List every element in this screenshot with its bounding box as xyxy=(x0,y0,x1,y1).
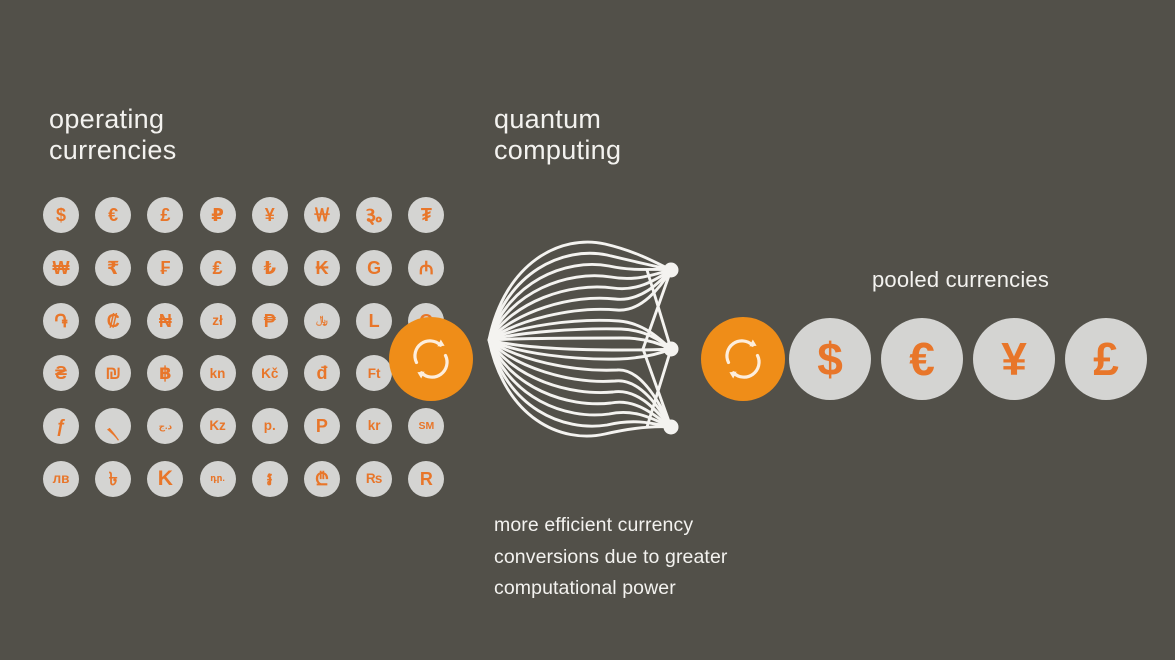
currency-coin-algerian-dinar: د.ج xyxy=(147,408,183,444)
currency-coin-azerbaijani-manat: ₼ xyxy=(408,250,444,286)
currency-coin-bengali-rupee: ৲ xyxy=(95,408,131,444)
currency-coin-ukrainian-hryvnia: ₴ xyxy=(43,355,79,391)
sync-arrows-icon xyxy=(407,335,455,383)
currency-coin-tajikistani-somoni: SM xyxy=(408,408,444,444)
currency-coin-saudi-riyal: ﷼ xyxy=(304,303,340,339)
currency-coin-angolan-kwanza: Kz xyxy=(200,408,236,444)
currency-coin-croatian-kuna: kn xyxy=(200,355,236,391)
currency-coin-lao-kip: ₭ xyxy=(304,250,340,286)
currency-coin-costa-rican-colon: ₡ xyxy=(95,303,131,339)
currency-coin-bangladeshi-taka: ৳ xyxy=(95,461,131,497)
currency-conversion-left[interactable] xyxy=(389,317,473,401)
currency-coin-vietnamese-dong: đ xyxy=(304,355,340,391)
currency-coin-bulgarian-lev: лв xyxy=(43,461,79,497)
pooled-coin-us-dollar: $ xyxy=(789,318,871,400)
sync-arrows-icon xyxy=(719,335,767,383)
currency-coin-mongolian-tugrik: ₮ xyxy=(408,197,444,233)
quantum-neural-network-icon xyxy=(483,228,689,450)
currency-coin-us-dollar: $ xyxy=(43,197,79,233)
currency-coin-pound-sterling: £ xyxy=(147,197,183,233)
currency-coin-albanian-lek: L xyxy=(356,303,392,339)
currency-coin-lira: ₤ xyxy=(200,250,236,286)
currency-coin-french-franc: ₣ xyxy=(147,250,183,286)
currency-coin-philippine-peso: ₱ xyxy=(252,303,288,339)
currency-coin-scandinavian-krone: kr xyxy=(356,408,392,444)
currency-coin-korean-won: ￦ xyxy=(304,197,340,233)
pooled-coin-euro: € xyxy=(881,318,963,400)
currency-coin-nigerian-naira: ₦ xyxy=(147,303,183,339)
quantum-neural-network-diagram xyxy=(483,228,689,450)
currency-coin-hungarian-forint: Ft xyxy=(356,355,392,391)
efficiency-caption: more efficient currency conversions due … xyxy=(494,510,728,605)
currency-coin-georgian-lari: ₾ xyxy=(304,461,340,497)
output-node-2 xyxy=(664,342,679,357)
currency-coin-zambian-kwacha: K xyxy=(147,461,183,497)
currency-coin-aruban-florin: ƒ xyxy=(43,408,79,444)
currency-coin-south-african-rand: R xyxy=(408,461,444,497)
currency-conversion-right[interactable] xyxy=(701,317,785,401)
currency-coin-israeli-shekel: ₪ xyxy=(95,355,131,391)
pooled-coin-pound-sterling: £ xyxy=(1065,318,1147,400)
infographic-canvas: operating currencies quantum computing p… xyxy=(0,0,1175,660)
currency-coin-south-korean-won: ₩ xyxy=(43,250,79,286)
currency-coin-turkish-lira: ₺ xyxy=(252,250,288,286)
output-node-1 xyxy=(664,263,679,278)
currency-coin-haitian-gourde: G xyxy=(356,250,392,286)
currency-coin-thai-baht: ฿ xyxy=(147,355,183,391)
currency-coin-japanese-yen: ¥ xyxy=(252,197,288,233)
currency-coin-belarusian-ruble: p. xyxy=(252,408,288,444)
currency-coin-polish-zloty: zł xyxy=(200,303,236,339)
currency-coin-czech-koruna: Kč xyxy=(252,355,288,391)
pooled-currencies-heading: pooled currencies xyxy=(872,267,1049,293)
currency-coin-gujarati-rupee: ૱ xyxy=(356,197,392,233)
currency-coin-rupee-sign: ₨ xyxy=(356,461,392,497)
currency-coin-botswana-pula: P xyxy=(304,408,340,444)
currency-coin-euro: € xyxy=(95,197,131,233)
currency-coin-cambodian-riel: ៛ xyxy=(252,461,288,497)
currency-coin-indian-rupee: ₹ xyxy=(95,250,131,286)
operating-currencies-heading: operating currencies xyxy=(49,104,177,166)
currency-coin-armenian-dram: ֏ xyxy=(43,303,79,339)
currency-coin-russian-ruble: ₽ xyxy=(200,197,236,233)
pooled-coin-japanese-yen: ¥ xyxy=(973,318,1055,400)
output-node-3 xyxy=(664,420,679,435)
quantum-computing-heading: quantum computing xyxy=(494,104,621,166)
currency-coin-armenian-dram-abbr: դր. xyxy=(200,461,236,497)
